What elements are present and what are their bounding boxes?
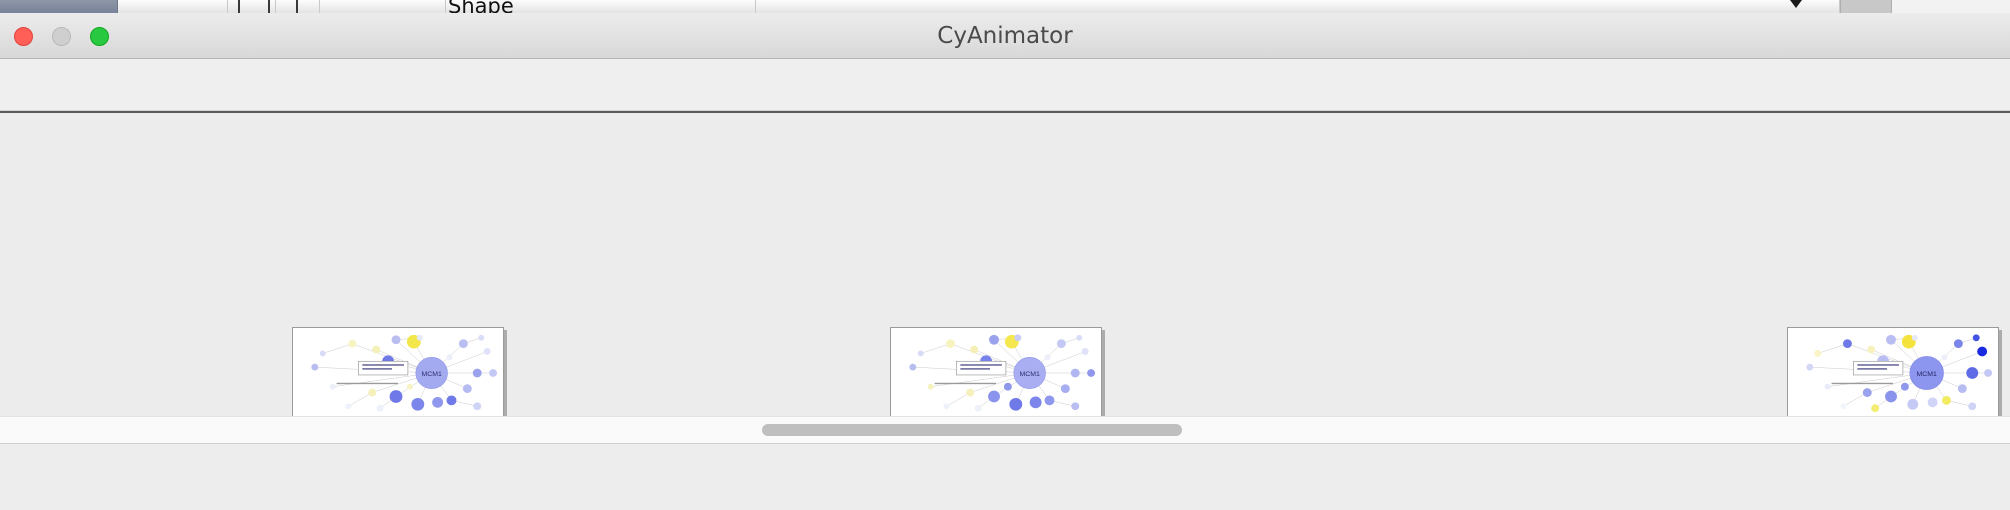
svg-text:MCM1: MCM1 — [1916, 371, 1937, 378]
bg-segment — [756, 0, 1840, 13]
playback-control-bar: Animation Speed: — [0, 443, 2010, 510]
title-bar: CyAnimator — [0, 13, 2010, 59]
frame-thumbnail-1[interactable]: MCM1 — [292, 327, 504, 416]
network-graph-2: MCM1 — [891, 328, 1101, 416]
timeline-scrollbar-thumb[interactable] — [762, 424, 1182, 436]
frame-thumbnail-3[interactable]: MCM1 — [1787, 327, 1999, 416]
bg-tick — [238, 0, 240, 13]
svg-text:MCM1: MCM1 — [1019, 371, 1040, 378]
network-graph-1: MCM1 — [293, 328, 503, 416]
background-scrollbar[interactable] — [1840, 0, 1892, 13]
background-shape-label: Shape — [448, 0, 514, 13]
bg-segment — [0, 0, 118, 13]
bg-tick — [268, 0, 270, 13]
svg-text:MCM1: MCM1 — [421, 371, 442, 378]
bg-segment — [118, 0, 228, 13]
timeline-scrollbar[interactable] — [0, 416, 2010, 443]
frame-thumbnail-2[interactable]: MCM1 — [890, 327, 1102, 416]
bg-segment — [320, 0, 446, 13]
background-cursor-arrow — [1787, 0, 1805, 8]
cyanimator-window: Shape CyAnimator Clear All Frames — [0, 0, 2010, 510]
timeline-panel[interactable]: MCM1 — [0, 111, 2010, 416]
window-title: CyAnimator — [0, 13, 2010, 59]
bg-tick — [296, 0, 298, 13]
network-graph-3: MCM1 — [1788, 328, 1998, 416]
toolbar: Clear All Frames — [0, 59, 2010, 111]
bg-segment — [276, 0, 320, 13]
background-window-strip: Shape — [0, 0, 2010, 13]
